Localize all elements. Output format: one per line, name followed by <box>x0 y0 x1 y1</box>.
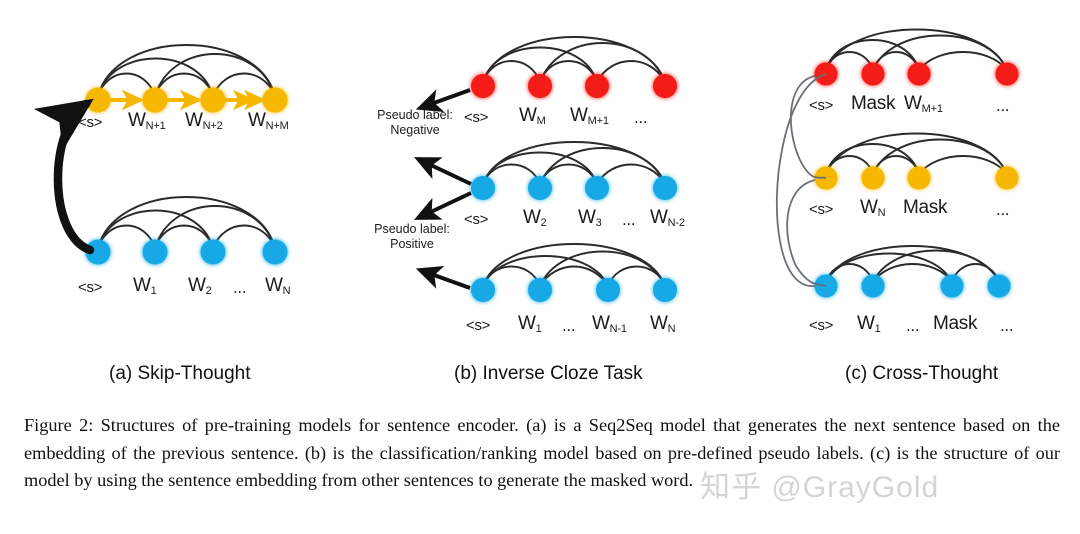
node-label-c-top-ellipsis: ... <box>996 96 1009 116</box>
panel-caption-a: (a) Skip-Thought <box>109 363 251 385</box>
figure-diagram: <s> WN+1 WN+2 WN+M <s> W1 W2 ... WN (a) … <box>0 0 1080 400</box>
panel-a-top-arcs <box>98 45 275 96</box>
panel-b-top-arcs <box>483 37 665 82</box>
node-label-c-bottom-ellipsis-2: ... <box>1000 316 1013 336</box>
pseudo-label-negative: Pseudo label: Negative <box>360 108 470 138</box>
panel-c-top-nodes <box>815 63 1019 86</box>
node-label-a-bottom-0: <s> <box>78 279 102 296</box>
node-label-b-mid-0: <s> <box>464 211 488 228</box>
node-label-b-top-1: WM <box>519 105 546 127</box>
panel-b-negative-arrow <box>420 90 470 108</box>
node-label-b-mid-3: WN-2 <box>650 207 685 229</box>
node-label-c-mid-1: WN <box>860 197 885 219</box>
node-label-b-top-ellipsis: ... <box>634 108 647 128</box>
node-label-a-top-1: WN+1 <box>128 110 166 132</box>
node-label-b-bottom-0: <s> <box>466 317 490 334</box>
node-label-c-top-1: Mask <box>851 93 895 115</box>
node-label-c-bottom-0: <s> <box>809 317 833 334</box>
node-label-c-bottom-1: W1 <box>857 313 881 335</box>
node-label-b-bottom-3: WN <box>650 313 675 335</box>
panel-b-mid-arcs <box>483 142 665 184</box>
panel-caption-c: (c) Cross-Thought <box>845 363 998 385</box>
node-label-c-mid-2: Mask <box>903 197 947 219</box>
pseudo-label-negative-line2: Negative <box>390 123 439 137</box>
node-label-a-bottom-2: W2 <box>188 275 212 297</box>
node-label-c-bottom-2: Mask <box>933 313 977 335</box>
panel-c-bottom-arcs <box>826 246 999 282</box>
panel-a-bottom-nodes <box>86 240 288 265</box>
figure-caption: Figure 2: Structures of pre-training mod… <box>24 412 1060 495</box>
panel-caption-b: (b) Inverse Cloze Task <box>454 363 643 385</box>
panel-b-bottom-nodes <box>471 278 677 302</box>
node-label-b-top-0: <s> <box>464 109 488 126</box>
panel-b-mid-nodes <box>471 176 677 200</box>
node-label-c-top-0: <s> <box>809 97 833 114</box>
node-label-b-mid-ellipsis: ... <box>622 210 635 230</box>
node-label-b-top-2: WM+1 <box>570 105 609 127</box>
node-label-a-top-2: WN+2 <box>185 110 223 132</box>
panel-c-mid-nodes <box>815 167 1019 190</box>
pseudo-label-positive: Pseudo label: Positive <box>357 222 467 252</box>
panel-b-positive-arrow <box>420 270 470 288</box>
node-label-c-mid-0: <s> <box>809 201 833 218</box>
panel-c-bottom-nodes <box>815 275 1011 298</box>
panel-b-bottom-arcs <box>483 244 665 286</box>
node-label-a-bottom-3: WN <box>265 275 290 297</box>
pseudo-label-positive-line2: Positive <box>390 237 434 251</box>
pseudo-label-negative-line1: Pseudo label: <box>377 108 453 122</box>
node-label-c-mid-ellipsis: ... <box>996 200 1009 220</box>
node-label-b-bottom-1: W1 <box>518 313 542 335</box>
node-label-a-top-0: <s> <box>78 114 102 131</box>
node-label-b-mid-1: W2 <box>523 207 547 229</box>
node-label-a-top-3: WN+M <box>248 110 289 132</box>
node-label-a-bottom-1: W1 <box>133 275 157 297</box>
panel-b-mid-arrows <box>418 159 471 218</box>
node-label-b-bottom-ellipsis: ... <box>562 316 575 336</box>
panel-a-bottom-arcs <box>98 197 275 248</box>
node-label-c-top-2: WM+1 <box>904 93 943 115</box>
node-label-b-bottom-2: WN-1 <box>592 313 627 335</box>
node-label-b-mid-2: W3 <box>578 207 602 229</box>
node-label-c-bottom-ellipsis-1: ... <box>906 316 919 336</box>
panel-b-top-nodes <box>471 74 677 98</box>
node-label-a-bottom-ellipsis: ... <box>233 278 246 298</box>
pseudo-label-positive-line1: Pseudo label: <box>374 222 450 236</box>
